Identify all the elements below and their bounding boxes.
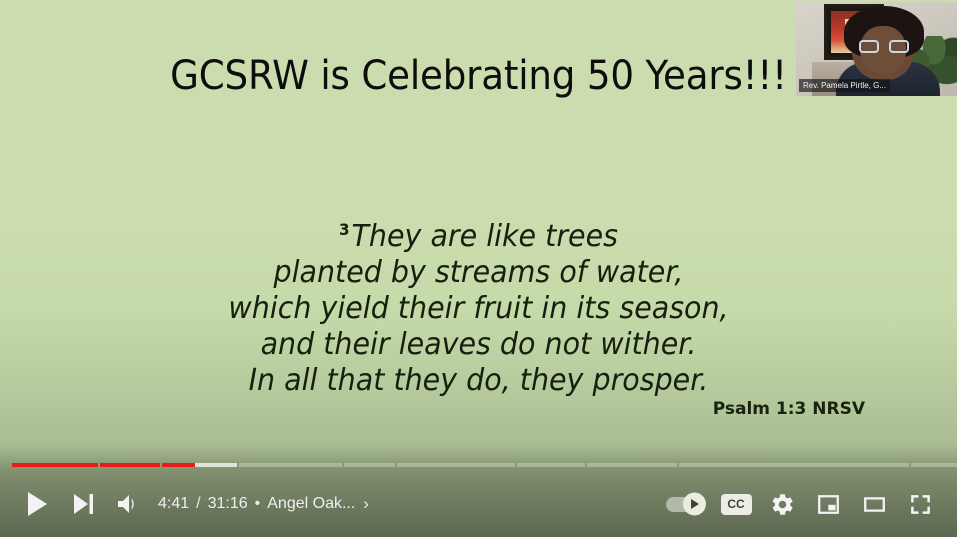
slide-title: GCSRW is Celebrating 50 Years!!!	[33, 53, 923, 99]
settings-button[interactable]	[759, 481, 805, 527]
played-fill	[162, 463, 195, 467]
verse-number: 3	[339, 220, 350, 239]
play-button[interactable]	[14, 481, 60, 527]
fullscreen-button[interactable]	[897, 481, 943, 527]
time-and-chapter[interactable]: 4:41 / 31:16 • Angel Oak... ›	[158, 494, 369, 514]
webcam-name-label: Rev. Pamela Pirtle, G...	[799, 79, 890, 92]
total-time: 31:16	[208, 495, 248, 513]
autoplay-toggle[interactable]	[655, 481, 713, 527]
player-controls: 4:41 / 31:16 • Angel Oak... › CC	[0, 475, 957, 537]
theater-mode-button[interactable]	[851, 481, 897, 527]
current-time: 4:41	[158, 495, 189, 513]
video-frame: GCSRW is Celebrating 50 Years!!! 3They a…	[0, 0, 957, 537]
chapter-segments[interactable]	[12, 463, 945, 467]
scripture-citation: Psalm 1:3 NRSV	[713, 399, 865, 419]
verse-line-2: planted by streams of water,	[273, 255, 683, 290]
video-player: GCSRW is Celebrating 50 Years!!! 3They a…	[0, 0, 957, 537]
verse-line-4: and their leaves do not wither.	[261, 327, 697, 362]
chapter-segment[interactable]	[100, 463, 160, 467]
chapter-segment[interactable]	[239, 463, 342, 467]
chapter-segment[interactable]	[587, 463, 678, 467]
chapter-segment[interactable]	[911, 463, 957, 467]
speaker-glasses	[857, 40, 911, 53]
bullet-separator: •	[255, 495, 261, 513]
chapter-title: Angel Oak...	[267, 495, 355, 513]
played-fill	[100, 463, 160, 467]
progress-bar[interactable]	[0, 459, 957, 471]
cc-icon: CC	[721, 494, 752, 515]
toggle-track[interactable]	[666, 497, 702, 512]
toggle-knob	[683, 493, 706, 516]
volume-button[interactable]	[106, 481, 152, 527]
miniplayer-button[interactable]	[805, 481, 851, 527]
captions-button[interactable]: CC	[713, 481, 759, 527]
verse-line-3: which yield their fruit in its season,	[228, 291, 728, 326]
chapter-segment[interactable]	[679, 463, 909, 467]
time-divider: /	[196, 495, 200, 513]
chevron-right-icon[interactable]: ›	[363, 494, 369, 514]
chapter-segment[interactable]	[517, 463, 585, 467]
verse-line-1: They are like trees	[352, 219, 618, 254]
played-fill	[12, 463, 98, 467]
webcam-overlay: Rev. Pamela Pirtle, G...	[796, 2, 957, 96]
chapter-segment[interactable]	[344, 463, 395, 467]
chapter-segment[interactable]	[397, 463, 515, 467]
verse-line-5: In all that they do, they prosper.	[249, 363, 709, 398]
chapter-segment[interactable]	[162, 463, 238, 467]
chapter-segment[interactable]	[12, 463, 98, 467]
scripture-verse: 3They are like trees planted by streams …	[24, 212, 933, 399]
next-video-button[interactable]	[60, 481, 106, 527]
